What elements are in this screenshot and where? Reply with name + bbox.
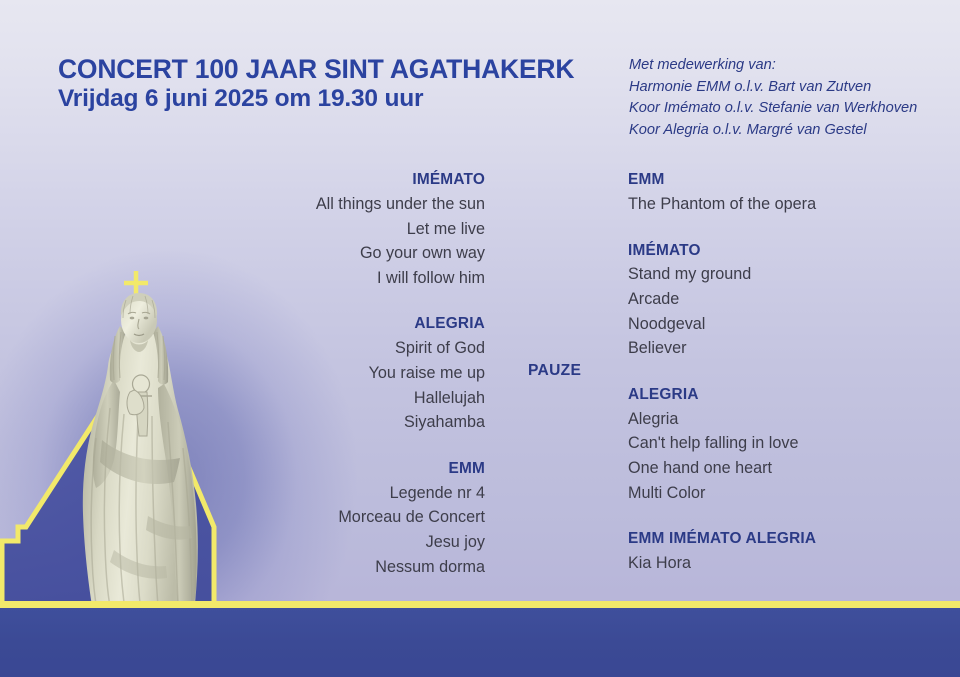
saint-agatha-statue (52, 288, 232, 653)
program-group: ALEGRIA Alegria Can't help falling in lo… (628, 383, 928, 505)
program-piece: All things under the sun (220, 192, 485, 217)
program-piece: Go your own way (220, 241, 485, 266)
program-group: EMM IMÉMATO ALEGRIA Kia Hora (628, 527, 928, 576)
bottom-blue-band (0, 608, 960, 677)
ensemble-name: EMM (220, 457, 485, 481)
title-line-2: Vrijdag 6 juni 2025 om 19.30 uur (58, 85, 574, 114)
credits-block: Met medewerking van: Harmonie EMM o.l.v.… (629, 55, 917, 141)
program-piece: Siyahamba (220, 410, 485, 435)
program-piece: Stand my ground (628, 262, 928, 287)
program-second-half: EMM The Phantom of the opera IMÉMATO Sta… (628, 168, 928, 576)
program-piece: Kia Hora (628, 551, 928, 576)
program-group: EMM The Phantom of the opera (628, 168, 928, 217)
program-piece: Spirit of God (220, 336, 485, 361)
program-group: IMÉMATO Stand my ground Arcade Noodgeval… (628, 239, 928, 361)
program-piece: Arcade (628, 287, 928, 312)
program-piece: I will follow him (220, 266, 485, 291)
ensemble-name: EMM (628, 168, 928, 192)
program-group: IMÉMATO All things under the sun Let me … (220, 168, 485, 290)
program-first-half: IMÉMATO All things under the sun Let me … (220, 168, 485, 579)
concert-poster: CONCERT 100 JAAR SINT AGATHAKERK Vrijdag… (0, 0, 960, 677)
program-piece: Let me live (220, 217, 485, 242)
credits-line-3: Koor Alegria o.l.v. Margré van Gestel (629, 120, 917, 142)
program-piece: Hallelujah (220, 386, 485, 411)
program-piece: The Phantom of the opera (628, 192, 928, 217)
program-piece: You raise me up (220, 361, 485, 386)
program-piece: Nessum dorma (220, 555, 485, 580)
ensemble-name: ALEGRIA (220, 312, 485, 336)
title-line-1: CONCERT 100 JAAR SINT AGATHAKERK (58, 54, 574, 85)
ensemble-name: EMM IMÉMATO ALEGRIA (628, 527, 928, 551)
program-piece: Noodgeval (628, 312, 928, 337)
intermission-label: PAUZE (528, 362, 581, 380)
program-piece: Morceau de Concert (220, 505, 485, 530)
program-group: EMM Legende nr 4 Morceau de Concert Jesu… (220, 457, 485, 579)
credits-line-1: Harmonie EMM o.l.v. Bart van Zutven (629, 77, 917, 99)
ensemble-name: ALEGRIA (628, 383, 928, 407)
credits-line-2: Koor Imémato o.l.v. Stefanie van Werkhov… (629, 98, 917, 120)
program-piece: Alegria (628, 407, 928, 432)
program-piece: Multi Color (628, 481, 928, 506)
ensemble-name: IMÉMATO (220, 168, 485, 192)
program-piece: Can't help falling in love (628, 431, 928, 456)
credits-intro: Met medewerking van: (629, 55, 917, 77)
program-piece: Believer (628, 336, 928, 361)
program-piece: One hand one heart (628, 456, 928, 481)
ensemble-name: IMÉMATO (628, 239, 928, 263)
program-piece: Legende nr 4 (220, 481, 485, 506)
program-piece: Jesu joy (220, 530, 485, 555)
gold-divider-rule (0, 601, 960, 608)
program-group: ALEGRIA Spirit of God You raise me up Ha… (220, 312, 485, 434)
statue-body (83, 330, 198, 620)
page-title: CONCERT 100 JAAR SINT AGATHAKERK Vrijdag… (58, 54, 574, 114)
